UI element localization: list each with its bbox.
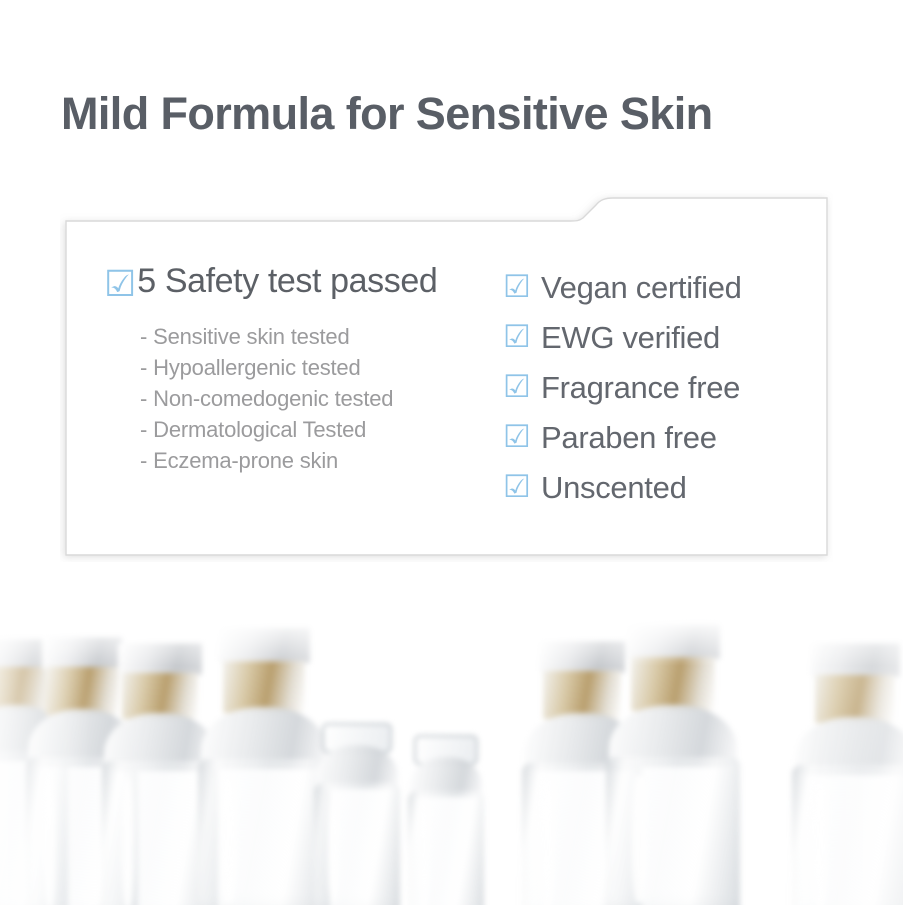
list-item: -Sensitive skin tested [140, 321, 504, 352]
dash-marker: - [140, 417, 147, 442]
certification-column: ☑ Vegan certified ☑ EWG verified ☑ Fragr… [503, 262, 823, 512]
safety-headline-row: ☑ 5 Safety test passed [104, 264, 504, 300]
product-detail-page: Mild Formula for Sensitive Skin ☑ 5 Safe… [0, 0, 903, 905]
list-item: ☑ EWG verified [503, 312, 823, 362]
list-item-label: Dermatological Tested [153, 417, 366, 442]
checkbox-checked-icon: ☑ [503, 371, 541, 402]
checkbox-checked-icon: ☑ [503, 471, 541, 502]
list-item-label: Hypoallergenic tested [153, 355, 360, 380]
safety-headline-label: 5 Safety test passed [137, 264, 437, 298]
list-item-label: Non-comedogenic tested [153, 386, 393, 411]
vial-row-illustration [0, 596, 903, 905]
list-item: ☑ Unscented [503, 462, 823, 512]
list-item: ☑ Paraben free [503, 412, 823, 462]
list-item: -Hypoallergenic tested [140, 352, 504, 383]
vial [406, 675, 486, 905]
certification-label: Unscented [541, 472, 687, 503]
list-item: ☑ Fragrance free [503, 362, 823, 412]
list-item: ☑ Vegan certified [503, 262, 823, 312]
list-item-label: Eczema-prone skin [153, 448, 338, 473]
list-item: -Eczema-prone skin [140, 445, 504, 476]
list-item-label: Sensitive skin tested [153, 324, 349, 349]
product-photo [0, 596, 903, 905]
dash-marker: - [140, 386, 147, 411]
checkbox-checked-icon: ☑ [503, 321, 541, 352]
vial [604, 603, 742, 905]
certification-label: Paraben free [541, 422, 717, 453]
dash-marker: - [140, 448, 147, 473]
checkbox-checked-icon: ☑ [104, 266, 136, 302]
certification-label: Vegan certified [541, 272, 742, 303]
list-item: -Non-comedogenic tested [140, 383, 504, 414]
checkbox-checked-icon: ☑ [503, 421, 541, 452]
certification-label: Fragrance free [541, 372, 740, 403]
list-item: -Dermatological Tested [140, 414, 504, 445]
safety-test-column: ☑ 5 Safety test passed -Sensitive skin t… [104, 264, 504, 476]
claims-folder-card: ☑ 5 Safety test passed -Sensitive skin t… [60, 186, 833, 562]
dash-marker: - [140, 324, 147, 349]
vial [312, 665, 402, 905]
certification-label: EWG verified [541, 322, 720, 353]
checkbox-checked-icon: ☑ [503, 271, 541, 302]
page-title: Mild Formula for Sensitive Skin [61, 88, 713, 140]
safety-test-list: -Sensitive skin tested -Hypoallergenic t… [140, 321, 504, 476]
vial [790, 615, 903, 905]
dash-marker: - [140, 355, 147, 380]
